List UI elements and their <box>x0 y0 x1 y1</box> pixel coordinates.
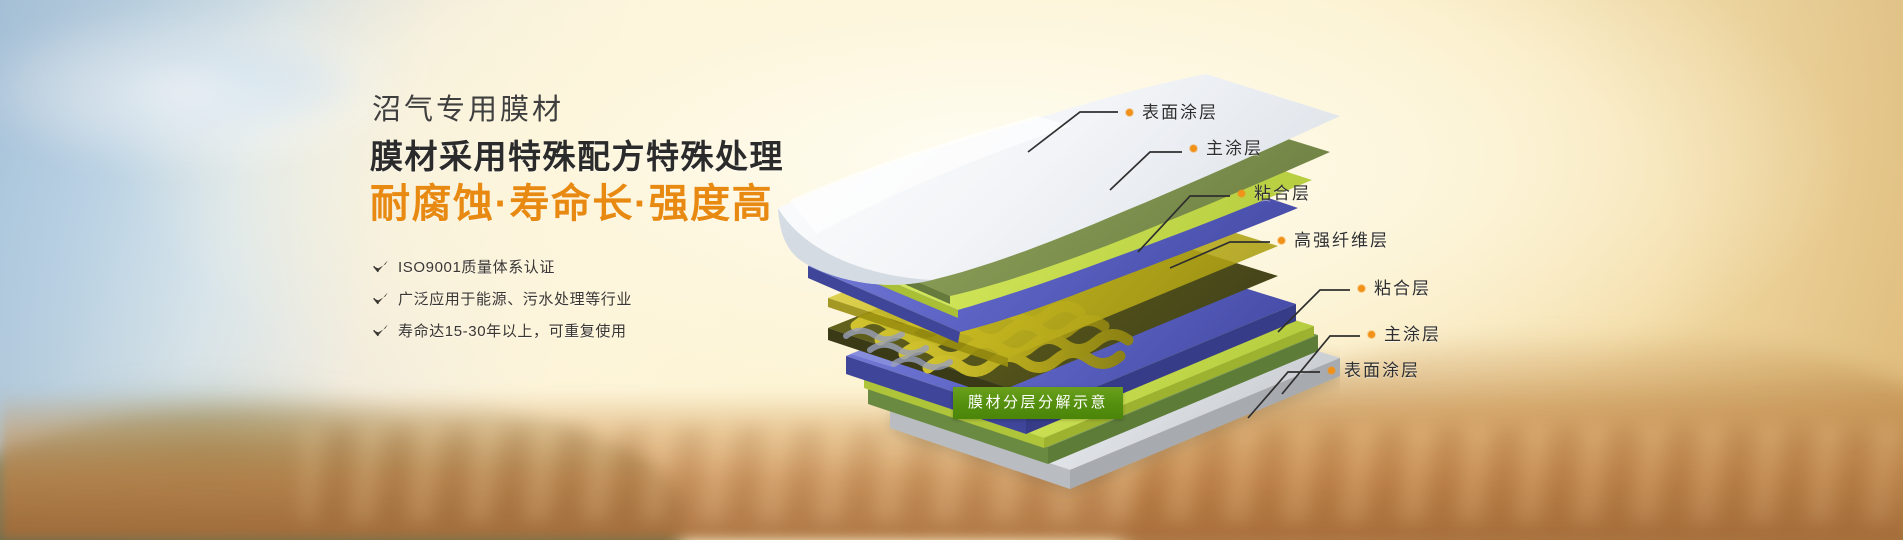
check-icon <box>372 259 389 276</box>
hero-banner: 沼气专用膜材 膜材采用特殊配方特殊处理 耐腐蚀·寿命长·强度高 ISO9001质… <box>0 0 1903 540</box>
callout-label: 高强纤维层 <box>1294 232 1389 249</box>
callout-label: 表面涂层 <box>1344 362 1420 379</box>
callout-surface-coat-bottom[interactable]: 表面涂层 <box>1328 362 1420 379</box>
bullet-dot-icon <box>1278 237 1285 244</box>
bullet-dot-icon <box>1126 109 1133 116</box>
callout-group: 表面涂层 主涂层 粘合层 高强纤维层 粘合层 主涂层 表面涂层 <box>1020 0 1620 540</box>
list-item-label: 广泛应用于能源、污水处理等行业 <box>398 292 632 307</box>
callout-label: 粘合层 <box>1254 185 1311 202</box>
bullet-dot-icon <box>1368 331 1375 338</box>
diagram-badge: 膜材分层分解示意 <box>953 387 1123 419</box>
bullet-dot-icon <box>1328 367 1335 374</box>
leader-lines <box>1020 0 1620 540</box>
leader-line-5 <box>1278 290 1350 332</box>
bullet-dot-icon <box>1190 145 1197 152</box>
callout-surface-coat-top[interactable]: 表面涂层 <box>1126 104 1218 121</box>
callout-label: 粘合层 <box>1374 280 1431 297</box>
bullet-dot-icon <box>1358 285 1365 292</box>
callout-label: 主涂层 <box>1384 326 1441 343</box>
check-icon <box>372 323 389 340</box>
leader-line-3 <box>1138 196 1230 252</box>
callout-adhesive-upper[interactable]: 粘合层 <box>1238 185 1311 202</box>
leader-line-7 <box>1248 372 1320 418</box>
list-item-label: 寿命达15-30年以上，可重复使用 <box>398 324 627 339</box>
callout-adhesive-lower[interactable]: 粘合层 <box>1358 280 1431 297</box>
check-icon <box>372 291 389 308</box>
callout-primary-coat-top[interactable]: 主涂层 <box>1190 140 1263 157</box>
bullet-dot-icon <box>1238 190 1245 197</box>
callout-primary-coat-bottom[interactable]: 主涂层 <box>1368 326 1441 343</box>
list-item-label: ISO9001质量体系认证 <box>398 260 555 275</box>
callout-label: 主涂层 <box>1206 140 1263 157</box>
leader-line-2 <box>1110 152 1182 190</box>
callout-high-strength-fiber[interactable]: 高强纤维层 <box>1278 232 1389 249</box>
callout-label: 表面涂层 <box>1142 104 1218 121</box>
leader-line-4 <box>1170 242 1270 268</box>
leader-line-1 <box>1028 112 1118 152</box>
